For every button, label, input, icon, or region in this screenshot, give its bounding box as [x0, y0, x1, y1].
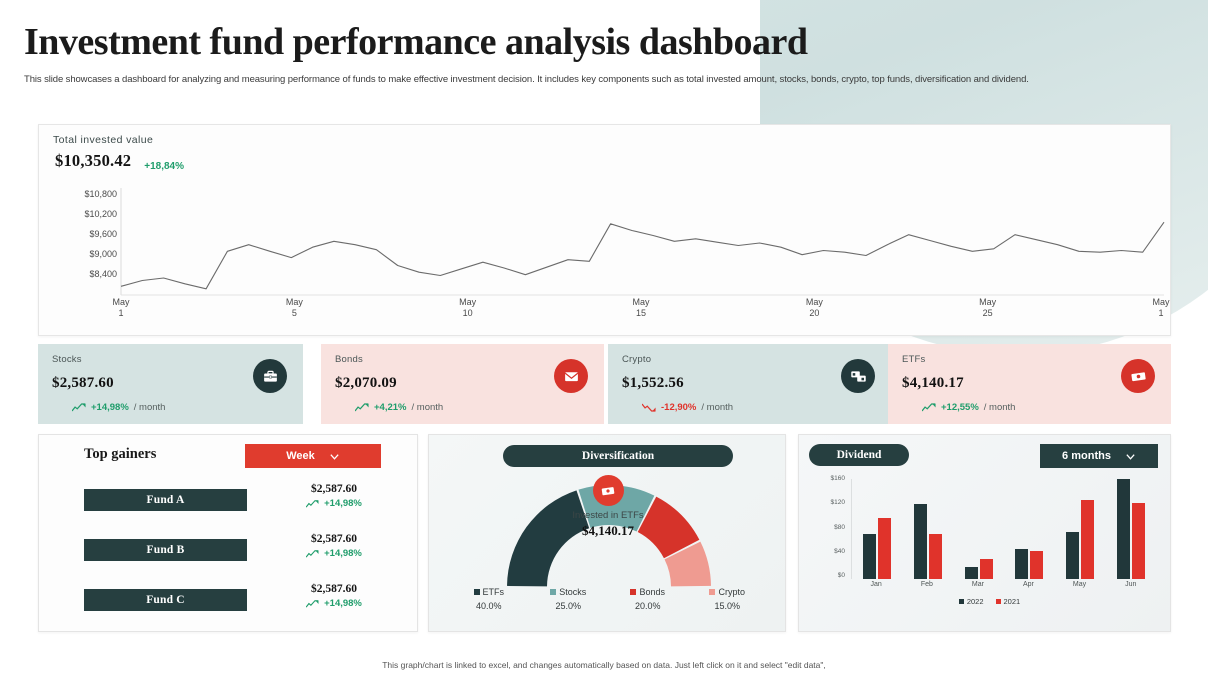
envelope-icon	[563, 368, 580, 385]
kpi-name: Stocks	[52, 354, 289, 365]
dividend-legend-item: 2022	[959, 597, 984, 606]
trend-up-icon	[306, 600, 319, 608]
dividend-x-tick: Jun	[1125, 581, 1136, 588]
trend-up-icon	[355, 403, 369, 412]
line-chart-x-tick: May1	[112, 297, 129, 319]
kpi-delta-period: / month	[984, 402, 1016, 413]
dividend-bar-2021-mar	[980, 559, 993, 579]
dividend-bar-2021-feb	[929, 534, 942, 579]
total-invested-delta-text: +18,84%	[144, 161, 184, 172]
total-invested-panel: Total invested value $10,350.42 +18,84% …	[38, 124, 1171, 336]
kpi-delta: +14,98%/ month	[72, 402, 289, 413]
legend-label: ETFs	[483, 587, 505, 597]
top-gainers-row[interactable]: Fund A$2,587.60+14,98%	[47, 483, 411, 525]
dividend-y-tick: $0	[838, 572, 845, 579]
dividend-x-tick: Apr	[1023, 581, 1034, 588]
diversification-panel: Diversification Invested in ETFs $4,140.…	[428, 434, 786, 632]
legend-swatch	[550, 589, 556, 595]
x-tick-day: 20	[806, 308, 823, 319]
dividend-x-tick: Feb	[921, 581, 933, 588]
dividend-period-dropdown[interactable]: 6 months	[1040, 444, 1158, 468]
footer-note: This graph/chart is linked to excel, and…	[0, 660, 1208, 670]
dividend-y-axis: $160$120$80$40$0	[817, 475, 845, 579]
kpi-value: $2,070.09	[335, 375, 590, 392]
x-tick-day: 1	[1152, 308, 1169, 319]
line-chart-x-tick: May5	[286, 297, 303, 319]
dividend-y-tick: $40	[834, 548, 845, 555]
dividend-bar-group	[1117, 479, 1145, 579]
x-tick-day: 10	[459, 308, 476, 319]
line-chart-x-tick: May15	[632, 297, 649, 319]
fund-name-pill[interactable]: Fund B	[84, 539, 247, 561]
x-tick-month: May	[806, 297, 823, 308]
dividend-x-axis: JanFebMarAprMayJun	[851, 581, 1156, 588]
fund-amount: $2,587.60	[279, 483, 389, 495]
fund-amount: $2,587.60	[279, 533, 389, 545]
dividend-x-tick: Jan	[871, 581, 882, 588]
dividend-bar-group	[1015, 479, 1043, 579]
dividend-bar-2021-jan	[878, 518, 891, 579]
kpi-delta: -12,90%/ month	[642, 402, 877, 413]
trend-down-icon	[642, 403, 656, 412]
kpi-delta-pct: -12,90%	[661, 402, 696, 413]
dividend-bar-group	[965, 479, 993, 579]
fund-delta-pct: +14,98%	[324, 598, 362, 609]
dashboard-page: Investment fund performance analysis das…	[0, 0, 1208, 679]
kpi-delta: +12,55%/ month	[922, 402, 1157, 413]
dividend-bar-2022-may	[1066, 532, 1079, 579]
kpi-card-etfs[interactable]: ETFs$4,140.17+12,55%/ month	[888, 344, 1171, 424]
x-tick-day: 1	[112, 308, 129, 319]
briefcase-icon-circle	[253, 359, 287, 393]
banknote-icon-circle	[1121, 359, 1155, 393]
legend-label-row: ETFs	[449, 587, 529, 597]
chevron-down-icon	[329, 451, 340, 462]
dividend-y-tick: $160	[831, 475, 845, 482]
legend-label: Stocks	[559, 587, 586, 597]
kpi-value: $1,552.56	[622, 375, 877, 392]
diversification-legend: ETFs40.0%Stocks25.0%Bonds20.0%Crypto15.0…	[449, 587, 767, 611]
kpi-value: $4,140.17	[902, 375, 1157, 392]
dividend-bar-chart: $160$120$80$40$0 JanFebMarAprMayJun 2022…	[817, 475, 1162, 595]
kpi-delta-period: / month	[412, 402, 444, 413]
legend-label: Bonds	[639, 587, 665, 597]
legend-label: 2021	[1004, 597, 1021, 606]
legend-label-row: Bonds	[608, 587, 688, 597]
total-invested-value: $10,350.42	[55, 151, 131, 171]
envelope-icon-circle	[554, 359, 588, 393]
fund-delta-pct: +14,98%	[324, 548, 362, 559]
legend-value: 40.0%	[449, 601, 529, 611]
dividend-bar-group	[914, 479, 942, 579]
dividend-period-label: 6 months	[1062, 450, 1111, 462]
briefcase-icon	[262, 368, 279, 385]
diversification-legend-item: Crypto15.0%	[688, 587, 768, 611]
kpi-card-crypto[interactable]: Crypto$1,552.56-12,90%/ month	[608, 344, 891, 424]
kpi-card-row: Stocks$2,587.60+14,98%/ monthBonds$2,070…	[38, 344, 1171, 424]
x-tick-month: May	[632, 297, 649, 308]
total-invested-delta: +18,84%	[140, 161, 184, 172]
page-title: Investment fund performance analysis das…	[24, 20, 808, 64]
banknote-icon	[1130, 368, 1147, 385]
fund-delta-pct: +14,98%	[324, 498, 362, 509]
diversification-legend-item: ETFs40.0%	[449, 587, 529, 611]
line-chart-x-tick: May10	[459, 297, 476, 319]
legend-label-row: Stocks	[529, 587, 609, 597]
legend-label-row: Crypto	[688, 587, 768, 597]
legend-swatch	[630, 589, 636, 595]
kpi-name: Crypto	[622, 354, 877, 365]
kpi-delta-pct: +4,21%	[374, 402, 407, 413]
exchange-icon	[850, 368, 867, 385]
fund-delta: +14,98%	[279, 498, 389, 509]
dividend-bar-group	[863, 479, 891, 579]
kpi-delta-pct: +14,98%	[91, 402, 129, 413]
dividend-bar-2022-apr	[1015, 549, 1028, 579]
dividend-x-tick: Mar	[972, 581, 984, 588]
top-gainers-row[interactable]: Fund B$2,587.60+14,98%	[47, 533, 411, 575]
dividend-bars	[851, 479, 1156, 579]
exchange-icon-circle	[841, 359, 875, 393]
dividend-bar-2022-jan	[863, 534, 876, 579]
gauge-slice-etfs	[507, 490, 589, 586]
dividend-y-tick: $120	[831, 499, 845, 506]
trend-up-icon	[72, 403, 86, 412]
kpi-delta-period: / month	[134, 402, 166, 413]
top-gainers-row[interactable]: Fund C$2,587.60+14,98%	[47, 583, 411, 625]
top-gainers-panel: Top gainers Week Fund A$2,587.60+14,98%F…	[38, 434, 418, 632]
total-invested-line-chart	[39, 187, 1172, 299]
trend-up-icon	[922, 403, 936, 412]
diversification-legend-item: Stocks25.0%	[529, 587, 609, 611]
dividend-y-tick: $80	[834, 524, 845, 531]
trend-up-icon	[306, 500, 319, 508]
fund-name-pill[interactable]: Fund A	[84, 489, 247, 511]
line-chart-x-tick: May1	[1152, 297, 1169, 319]
fund-name-pill[interactable]: Fund C	[84, 589, 247, 611]
kpi-card-stocks[interactable]: Stocks$2,587.60+14,98%/ month	[38, 344, 303, 424]
legend-value: 20.0%	[608, 601, 688, 611]
top-gainers-period-label: Week	[286, 450, 315, 462]
legend-swatch	[959, 599, 964, 604]
legend-swatch	[474, 589, 480, 595]
dividend-bar-2021-may	[1081, 500, 1094, 579]
dividend-legend-item: 2021	[996, 597, 1021, 606]
fund-delta: +14,98%	[279, 598, 389, 609]
x-tick-month: May	[1152, 297, 1169, 308]
total-invested-summary: $10,350.42 +18,84%	[55, 151, 184, 172]
kpi-delta-period: / month	[701, 402, 733, 413]
trend-up-icon	[306, 550, 319, 558]
top-gainers-period-dropdown[interactable]: Week	[245, 444, 381, 468]
diversification-legend-item: Bonds20.0%	[608, 587, 688, 611]
dividend-bar-2022-mar	[965, 567, 978, 580]
legend-value: 15.0%	[688, 601, 768, 611]
dividend-x-tick: May	[1073, 581, 1086, 588]
diversification-gauge-chart	[489, 475, 729, 595]
dividend-title: Dividend	[809, 444, 909, 466]
legend-label: Crypto	[718, 587, 745, 597]
legend-value: 25.0%	[529, 601, 609, 611]
top-gainers-title: Top gainers	[84, 446, 156, 463]
dividend-bar-2021-jun	[1132, 503, 1145, 579]
x-tick-day: 15	[632, 308, 649, 319]
x-tick-day: 5	[286, 308, 303, 319]
kpi-card-bonds[interactable]: Bonds$2,070.09+4,21%/ month	[321, 344, 604, 424]
legend-swatch	[996, 599, 1001, 604]
x-tick-month: May	[459, 297, 476, 308]
x-tick-month: May	[286, 297, 303, 308]
page-subtitle: This slide showcases a dashboard for ana…	[24, 74, 1184, 87]
kpi-delta: +4,21%/ month	[355, 402, 590, 413]
total-invested-label: Total invested value	[53, 134, 153, 146]
x-tick-month: May	[112, 297, 129, 308]
x-tick-month: May	[979, 297, 996, 308]
fund-delta: +14,98%	[279, 548, 389, 559]
dividend-bar-group	[1066, 479, 1094, 579]
chevron-down-icon	[1125, 451, 1136, 462]
kpi-name: ETFs	[902, 354, 1157, 365]
diversification-title: Diversification	[503, 445, 733, 467]
line-chart-x-tick: May25	[979, 297, 996, 319]
dividend-legend: 20222021	[817, 597, 1162, 606]
kpi-delta-pct: +12,55%	[941, 402, 979, 413]
kpi-name: Bonds	[335, 354, 590, 365]
dividend-bar-2022-jun	[1117, 479, 1130, 579]
x-tick-day: 25	[979, 308, 996, 319]
dividend-bar-2022-feb	[914, 504, 927, 579]
dividend-bar-2021-apr	[1030, 551, 1043, 579]
dividend-panel: Dividend 6 months $160$120$80$40$0 JanFe…	[798, 434, 1171, 632]
legend-swatch	[709, 589, 715, 595]
fund-amount: $2,587.60	[279, 583, 389, 595]
legend-label: 2022	[967, 597, 984, 606]
line-chart-x-axis: May1May5May10May15May20May25May1	[121, 297, 1161, 331]
line-chart-x-tick: May20	[806, 297, 823, 319]
